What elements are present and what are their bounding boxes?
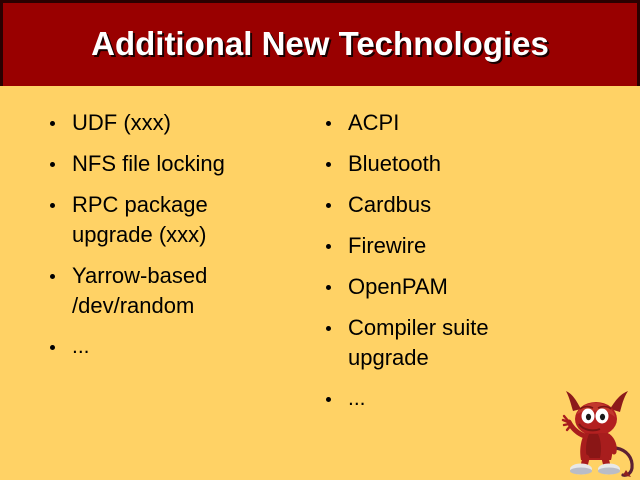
list-item-label: Compiler suite upgrade <box>348 313 614 373</box>
bullet-dot-icon <box>50 203 55 208</box>
list-item: ... <box>48 332 313 362</box>
bullet-dot-icon <box>326 244 331 249</box>
page-title: Additional New Technologies <box>91 27 549 62</box>
list-item-label: Cardbus <box>348 190 614 220</box>
bullet-dot-icon <box>50 345 55 350</box>
list-item: Bluetooth <box>324 149 614 179</box>
list-item-label: OpenPAM <box>348 272 614 302</box>
presentation-slide: Additional New Technologies UDF (xxx) NF… <box>0 0 640 480</box>
list-item: UDF (xxx) <box>48 108 313 138</box>
list-item: Compiler suite upgrade <box>324 313 614 373</box>
bullet-dot-icon <box>326 203 331 208</box>
bullet-dot-icon <box>50 121 55 126</box>
bullet-dot-icon <box>50 274 55 279</box>
list-item-label: Bluetooth <box>348 149 614 179</box>
bullet-dot-icon <box>326 285 331 290</box>
bullet-dot-icon <box>326 162 331 167</box>
list-item: RPC package upgrade (xxx) <box>48 190 313 250</box>
bullet-dot-icon <box>326 326 331 331</box>
list-item-label: UDF (xxx) <box>72 108 313 138</box>
list-item: Firewire <box>324 231 614 261</box>
list-item-label: Firewire <box>348 231 614 261</box>
list-item: ACPI <box>324 108 614 138</box>
bsd-daemon-icon <box>553 386 640 480</box>
bullet-dot-icon <box>326 121 331 126</box>
list-item-label: RPC package upgrade (xxx) <box>72 190 313 250</box>
list-item-label: Yarrow-based /dev/random <box>72 261 313 321</box>
left-bullet-list: UDF (xxx) NFS file locking RPC package u… <box>48 86 313 362</box>
list-item-label: NFS file locking <box>72 149 313 179</box>
left-column: UDF (xxx) NFS file locking RPC package u… <box>48 86 313 373</box>
bullet-dot-icon <box>326 397 331 402</box>
bullet-dot-icon <box>50 162 55 167</box>
slide-body: UDF (xxx) NFS file locking RPC package u… <box>0 86 640 480</box>
list-item: NFS file locking <box>48 149 313 179</box>
slide-title-bar: Additional New Technologies <box>0 0 640 86</box>
list-item-label: ACPI <box>348 108 614 138</box>
right-column: ACPI Bluetooth Cardbus Firewire OpenPAM <box>324 86 614 425</box>
list-item-label: ... <box>72 332 313 362</box>
right-bullet-list: ACPI Bluetooth Cardbus Firewire OpenPAM <box>324 86 614 414</box>
list-item: Yarrow-based /dev/random <box>48 261 313 321</box>
list-item: Cardbus <box>324 190 614 220</box>
list-item: OpenPAM <box>324 272 614 302</box>
